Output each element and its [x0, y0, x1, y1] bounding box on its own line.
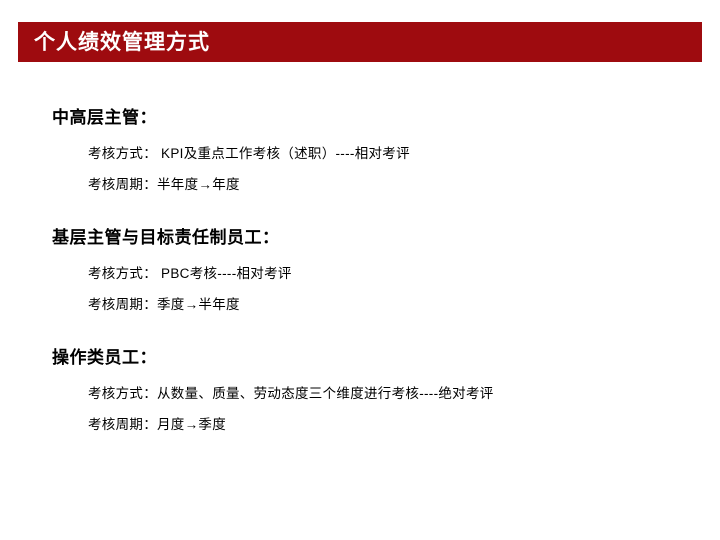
group-heading: 中高层主管：: [52, 103, 720, 128]
content-group-operators: 操作类员工： 考核方式：从数量、质量、劳动态度三个维度进行考核----绝对考评 …: [0, 343, 720, 433]
group-heading: 操作类员工：: [52, 343, 720, 368]
group-line-method: 考核方式： KPI及重点工作考核（述职）----相对考评: [88, 142, 720, 162]
content-group-senior-management: 中高层主管： 考核方式： KPI及重点工作考核（述职）----相对考评 考核周期…: [0, 103, 720, 193]
group-line-method: 考核方式： PBC考核----相对考评: [88, 262, 720, 282]
group-line-cycle: 考核周期：半年度→年度: [88, 173, 720, 193]
content-group-frontline-management: 基层主管与目标责任制员工： 考核方式： PBC考核----相对考评 考核周期：季…: [0, 223, 720, 313]
title-bar: 个人绩效管理方式: [18, 22, 702, 62]
group-line-cycle: 考核周期：季度→半年度: [88, 293, 720, 313]
group-line-method: 考核方式：从数量、质量、劳动态度三个维度进行考核----绝对考评: [88, 382, 720, 402]
slide-content: 中高层主管： 考核方式： KPI及重点工作考核（述职）----相对考评 考核周期…: [0, 95, 720, 455]
slide: 个人绩效管理方式 中高层主管： 考核方式： KPI及重点工作考核（述职）----…: [0, 0, 720, 540]
page-title: 个人绩效管理方式: [34, 32, 210, 53]
group-heading: 基层主管与目标责任制员工：: [52, 223, 720, 248]
group-line-cycle: 考核周期：月度→季度: [88, 413, 720, 433]
